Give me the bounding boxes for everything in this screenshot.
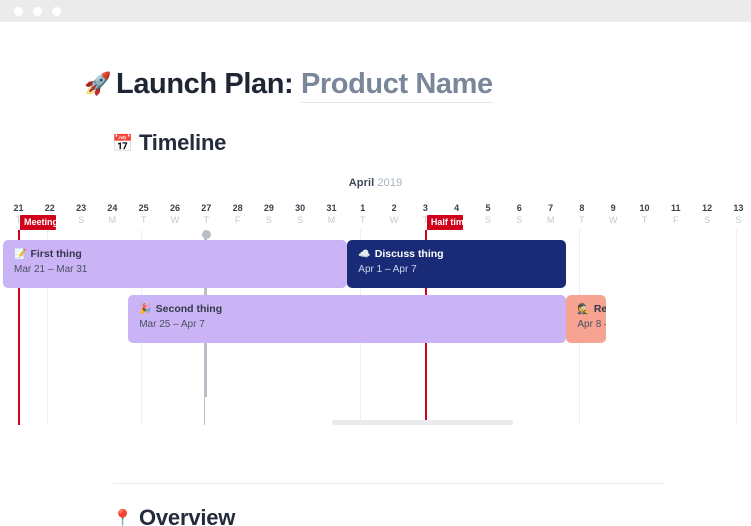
ruler-day-column: 9W <box>598 202 629 227</box>
gantt-task-dates: Mar 25 – Apr 7 <box>139 317 555 332</box>
ruler-day-number: 6 <box>504 202 535 214</box>
ruler-day-number: 1 <box>347 202 378 214</box>
ruler-day-column: 10T <box>629 202 660 227</box>
ruler-day-number: 29 <box>253 202 284 214</box>
app-window: 🚀Launch Plan: Product Name 📅Timeline Apr… <box>0 0 751 526</box>
ruler-day-letter: W <box>598 214 629 227</box>
ruler-day-number: 25 <box>128 202 159 214</box>
gantt-task-title: 🕵️Review <box>577 302 595 317</box>
gridline <box>736 230 737 425</box>
gantt-task-name: Discuss thing <box>375 248 444 260</box>
ruler-day-number: 30 <box>285 202 316 214</box>
page-title-text: Launch Plan: <box>116 68 293 100</box>
gantt-task-name: Second thing <box>156 303 223 315</box>
gantt-task-title: ☁️Discuss thing <box>358 247 555 262</box>
ruler-day-number: 10 <box>629 202 660 214</box>
ruler-day-letter: S <box>285 214 316 227</box>
gantt-task-icon: ☁️ <box>358 249 370 260</box>
ruler-day-number: 3 <box>410 202 441 214</box>
ruler-day-letter: S <box>473 214 504 227</box>
ruler-day-letter: M <box>316 214 347 227</box>
ruler-day-column: 29S <box>253 202 284 227</box>
section-heading-overview: 📍Overview <box>112 507 235 526</box>
month-label: April 2019 <box>0 177 751 189</box>
page-title: 🚀Launch Plan: Product Name <box>84 70 493 99</box>
ruler-day-letter: W <box>379 214 410 227</box>
section-heading-overview-label: Overview <box>139 505 235 526</box>
gantt-task-name: Review <box>594 303 607 315</box>
gantt-task-icon: 🕵️ <box>577 304 589 315</box>
ruler-day-column: 24M <box>97 202 128 227</box>
ruler-day-letter: T <box>629 214 660 227</box>
ruler-day-letter: S <box>253 214 284 227</box>
ruler-day-number: 21 <box>3 202 34 214</box>
ruler-day-column: 27T <box>191 202 222 227</box>
ruler-day-number: 12 <box>692 202 723 214</box>
gantt-task-bar[interactable]: 🎉Second thingMar 25 – Apr 7 <box>128 295 566 343</box>
ruler-day-letter: S <box>692 214 723 227</box>
horizontal-scrollbar[interactable] <box>332 420 513 425</box>
ruler-day-number: 8 <box>566 202 597 214</box>
ruler-day-letter: T <box>191 214 222 227</box>
maximize-icon[interactable] <box>52 7 61 16</box>
gantt-task-name: First thing <box>30 248 81 260</box>
ruler-day-letter: S <box>723 214 751 227</box>
close-icon[interactable] <box>14 7 23 16</box>
gantt-task-bar[interactable]: 📝First thingMar 21 – Mar 31 <box>3 240 347 288</box>
ruler-day-column: 13S <box>723 202 751 227</box>
ruler-day-number: 7 <box>535 202 566 214</box>
ruler-day-letter: S <box>504 214 535 227</box>
gantt-task-dates: Apr 8 – Apr 14 <box>577 317 595 332</box>
section-divider <box>113 483 664 484</box>
gantt-task-title: 📝First thing <box>14 247 336 262</box>
ruler-day-number: 22 <box>34 202 65 214</box>
ruler-day-letter: W <box>160 214 191 227</box>
milestone-flag[interactable]: Half time <box>427 215 463 230</box>
milestone-flag[interactable]: Meeting <box>20 215 56 230</box>
ruler-day-column: 30S <box>285 202 316 227</box>
ruler-day-number: 2 <box>379 202 410 214</box>
ruler-day-letter: F <box>660 214 691 227</box>
pushpin-icon: 📍 <box>112 509 133 526</box>
ruler-day-column: 1T <box>347 202 378 227</box>
gantt-task-bar[interactable]: ☁️Discuss thingApr 1 – Apr 7 <box>347 240 566 288</box>
ruler-day-number: 31 <box>316 202 347 214</box>
ruler-day-number: 24 <box>97 202 128 214</box>
rocket-icon: 🚀 <box>84 71 111 96</box>
section-heading-timeline: 📅Timeline <box>112 132 226 154</box>
ruler-day-column: 12S <box>692 202 723 227</box>
gantt-task-dates: Apr 1 – Apr 7 <box>358 262 555 277</box>
ruler-day-column: 25T <box>128 202 159 227</box>
ruler-day-letter: S <box>66 214 97 227</box>
ruler-day-letter: M <box>97 214 128 227</box>
timeline-date-ruler: 21T22S23S24M25T26W27T28F29S30S31M1T2W3T4… <box>0 202 751 234</box>
ruler-day-number: 27 <box>191 202 222 214</box>
ruler-day-letter: F <box>222 214 253 227</box>
gantt-timeline[interactable]: 21T22S23S24M25T26W27T28F29S30S31M1T2W3T4… <box>0 202 751 417</box>
ruler-day-number: 26 <box>160 202 191 214</box>
ruler-day-column: 11F <box>660 202 691 227</box>
section-heading-timeline-label: Timeline <box>139 130 226 155</box>
minimize-icon[interactable] <box>33 7 42 16</box>
ruler-day-letter: T <box>347 214 378 227</box>
ruler-day-column: 23S <box>66 202 97 227</box>
window-titlebar <box>0 0 751 22</box>
ruler-day-column: 7M <box>535 202 566 227</box>
document-page: 🚀Launch Plan: Product Name 📅Timeline Apr… <box>0 22 751 526</box>
month-name: April <box>349 177 375 189</box>
product-name-field[interactable]: Product Name <box>301 68 493 103</box>
year-value: 2019 <box>377 177 402 189</box>
gantt-task-icon: 📝 <box>14 249 26 260</box>
gantt-task-title: 🎉Second thing <box>139 302 555 317</box>
ruler-day-number: 23 <box>66 202 97 214</box>
ruler-day-number: 4 <box>441 202 472 214</box>
ruler-day-letter: T <box>128 214 159 227</box>
ruler-day-column: 5S <box>473 202 504 227</box>
ruler-day-number: 11 <box>660 202 691 214</box>
ruler-day-column: 26W <box>160 202 191 227</box>
ruler-day-column: 2W <box>379 202 410 227</box>
calendar-icon: 📅 <box>112 134 133 153</box>
ruler-day-column: 6S <box>504 202 535 227</box>
ruler-day-letter: M <box>535 214 566 227</box>
ruler-day-number: 28 <box>222 202 253 214</box>
ruler-day-number: 13 <box>723 202 751 214</box>
ruler-day-column: 28F <box>222 202 253 227</box>
ruler-day-number: 9 <box>598 202 629 214</box>
gantt-task-bar[interactable]: 🕵️ReviewApr 8 – Apr 14 <box>566 295 606 343</box>
ruler-day-column: 8T <box>566 202 597 227</box>
ruler-day-column: 31M <box>316 202 347 227</box>
gantt-task-dates: Mar 21 – Mar 31 <box>14 262 336 277</box>
gantt-task-icon: 🎉 <box>139 304 151 315</box>
ruler-day-letter: T <box>566 214 597 227</box>
ruler-day-number: 5 <box>473 202 504 214</box>
